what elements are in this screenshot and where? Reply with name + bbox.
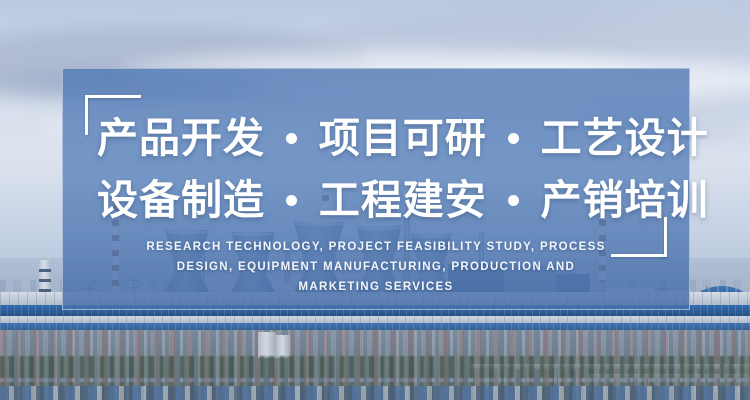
- headline-segment: 产品开发: [97, 115, 265, 161]
- subtitle-group: RESEARCH TECHNOLOGY, PROJECT FEASIBILITY…: [113, 237, 639, 297]
- headline-segment: 工艺设计: [541, 115, 709, 161]
- headline-segment: 工程建安: [319, 177, 487, 223]
- bullet-separator-icon: [508, 195, 519, 206]
- text-overlay-panel: 产品开发 项目可研 工艺设计 设备制造 工程建安 产销培训 RESEARCH T…: [62, 68, 690, 310]
- bullet-separator-icon: [286, 195, 297, 206]
- foreground-cityscape: [0, 330, 750, 400]
- white-factory-strip: [0, 316, 750, 323]
- headline-segment: 设备制造: [97, 177, 265, 223]
- tower-band: [39, 279, 51, 282]
- silo: [258, 332, 276, 358]
- tree-line: [0, 356, 750, 378]
- tower-band: [39, 269, 51, 272]
- headline-segment: 产销培训: [541, 177, 709, 223]
- headline-line-1: 产品开发 项目可研 工艺设计: [97, 107, 655, 169]
- headline-line-2: 设备制造 工程建安 产销培训: [97, 169, 655, 231]
- subtitle-line-2: DESIGN, EQUIPMENT MANUFACTURING, PRODUCT…: [113, 257, 639, 277]
- subtitle-line-3: MARKETING SERVICES: [113, 277, 639, 297]
- bullet-separator-icon: [286, 133, 297, 144]
- headline-segment: 项目可研: [319, 115, 487, 161]
- foreground-warehouse-row: [0, 386, 750, 400]
- subtitle-line-1: RESEARCH TECHNOLOGY, PROJECT FEASIBILITY…: [113, 237, 639, 257]
- headline-group: 产品开发 项目可研 工艺设计 设备制造 工程建安 产销培训: [97, 107, 655, 231]
- silo: [276, 335, 290, 358]
- bullet-separator-icon: [508, 133, 519, 144]
- industrial-banner: 产品开发 项目可研 工艺设计 设备制造 工程建安 产销培训 RESEARCH T…: [0, 0, 750, 400]
